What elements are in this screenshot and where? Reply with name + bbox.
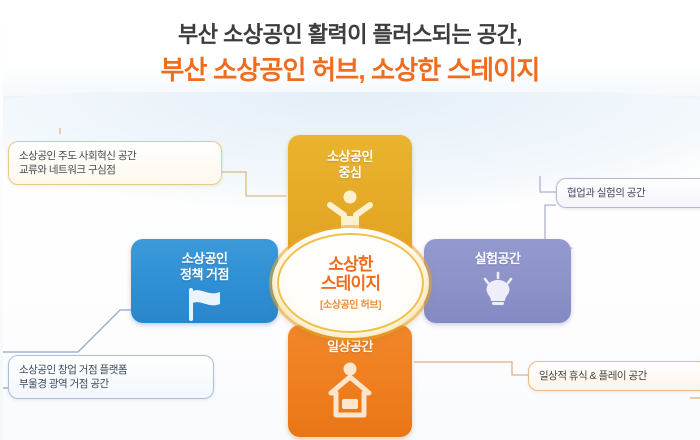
- infographic-canvas: 부산 소상공인 활력이 플러스되는 공간, 부산 소상공인 허브, 소상한 스테…: [0, 0, 700, 440]
- card-right-label: 실험공간: [475, 251, 521, 267]
- hub-subtitle: [소상공인 허브]: [320, 296, 381, 311]
- callout-top-right[interactable]: 협업과 실험의 공간: [556, 178, 700, 208]
- person-house-icon: [323, 359, 377, 424]
- callout-bottom-right[interactable]: 일상적 휴식 & 플레이 공간: [528, 361, 700, 391]
- center-hub[interactable]: 소상한 스테이지 [소상공인 허브]: [272, 228, 429, 338]
- lightbulb-icon: [477, 271, 519, 314]
- callout-bottom-left[interactable]: 소상공인 창업 거점 플랫폼 부울경 광역 거점 공간: [8, 355, 214, 399]
- card-left-policy-hub[interactable]: 소상공인 정책 거점: [131, 239, 278, 323]
- card-bottom-label: 일상공간: [327, 339, 373, 355]
- page-title: 부산 소상공인 활력이 플러스되는 공간, 부산 소상공인 허브, 소상한 스테…: [0, 20, 700, 88]
- card-left-label: 소상공인 정책 거점: [180, 251, 229, 283]
- center-hub-inner: 소상한 스테이지 [소상공인 허브]: [277, 233, 424, 333]
- flag-icon: [182, 287, 228, 326]
- hub-title: 소상한 스테이지: [321, 255, 380, 293]
- title-line-1: 부산 소상공인 활력이 플러스되는 공간,: [0, 20, 700, 50]
- card-top-label: 소상공인 중심: [327, 149, 373, 181]
- title-line-2: 부산 소상공인 허브, 소상한 스테이지: [0, 52, 700, 88]
- card-bottom-daily-space[interactable]: 일상공간: [288, 325, 412, 437]
- left-edge-tint: [0, 0, 3, 440]
- card-right-experiment-space[interactable]: 실험공간: [424, 239, 571, 323]
- callout-top-left[interactable]: 소상공인 주도 사회혁신 공간 교류와 네트워크 구심점: [8, 141, 222, 185]
